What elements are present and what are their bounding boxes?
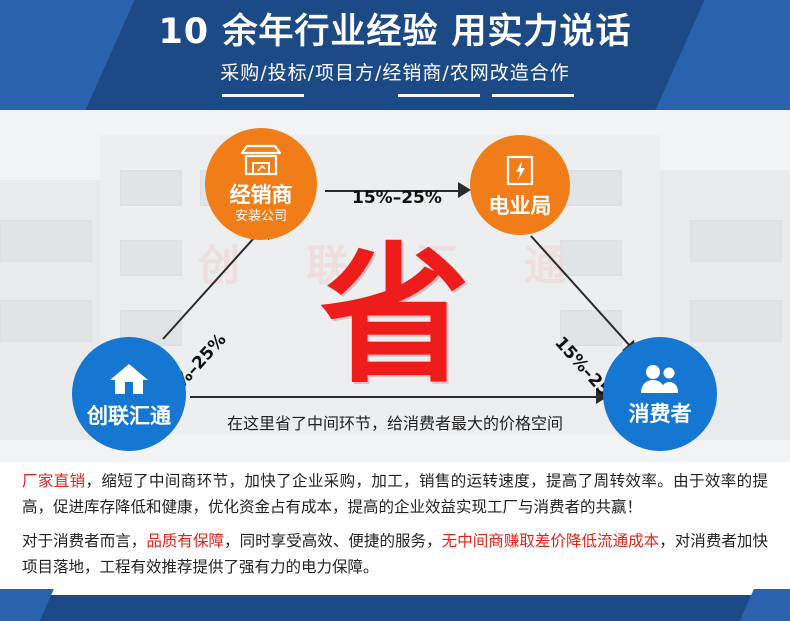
node-power-bureau[interactable]: 电业局 (470, 135, 570, 235)
page-footer (0, 595, 790, 621)
node-dealer[interactable]: 经销商 安装公司 (205, 128, 317, 240)
subtitle-underline-3 (492, 94, 574, 97)
edge-label-dealer-to-power: 15%–25% (352, 188, 442, 208)
node-company-label: 创联汇通 (87, 404, 171, 428)
node-dealer-sublabel: 安装公司 (235, 208, 287, 225)
paragraph-2-text-a: 对于消费者而言， (22, 532, 146, 550)
paragraph-1-highlight: 厂家直销 (22, 472, 86, 490)
people-icon (638, 363, 682, 399)
paragraph-2-text-b: ，同时享受高效、便捷的服务， (224, 532, 442, 550)
subtitle-underline-1 (222, 94, 304, 97)
flow-diagram: 创 联 汇 通 15%–25% 15%–25% 15%–25% 省 (0, 110, 790, 462)
node-company[interactable]: 创联汇通 (72, 337, 186, 451)
node-dealer-label: 经销商 (230, 183, 293, 207)
node-power-bureau-label: 电业局 (489, 194, 552, 218)
node-consumer-label: 消费者 (629, 402, 692, 426)
paragraph-1: 厂家直销，缩短了中间商环节，加快了企业采购，加工，销售的运转速度，提高了周转效率… (22, 468, 768, 520)
page-subtitle: 采购/投标/项目方/经销商/农网改造合作 (0, 60, 790, 86)
diagram-caption: 在这里省了中间环节，给消费者最大的价格空间 (200, 410, 590, 434)
shop-icon (239, 144, 283, 180)
node-consumer[interactable]: 消费者 (603, 337, 717, 451)
home-icon (107, 361, 151, 401)
paragraph-2: 对于消费者而言，品质有保障，同时享受高效、便捷的服务，无中间商赚取差价降低流通成… (22, 528, 768, 580)
promo-page: 10 余年行业经验 用实力说话 采购/投标/项目方/经销商/农网改造合作 创 联… (0, 0, 790, 621)
paragraph-2-highlight-a: 品质有保障 (146, 532, 224, 550)
paragraph-2-highlight-b: 无中间商赚取差价降低流通成本 (442, 532, 660, 550)
background-window (120, 170, 182, 206)
description-block: 厂家直销，缩短了中间商环节，加快了企业采购，加工，销售的运转速度，提高了周转效率… (0, 462, 790, 596)
subtitle-underline-2 (398, 94, 480, 97)
footer-decor-left (0, 589, 54, 621)
paragraph-1-text: ，缩短了中间商环节，加快了企业采购，加工，销售的运转速度，提高了周转效率。由于效… (22, 472, 768, 516)
page-title: 10 余年行业经验 用实力说话 (0, 10, 790, 54)
building-icon (503, 153, 537, 191)
page-header: 10 余年行业经验 用实力说话 采购/投标/项目方/经销商/农网改造合作 (0, 0, 790, 110)
